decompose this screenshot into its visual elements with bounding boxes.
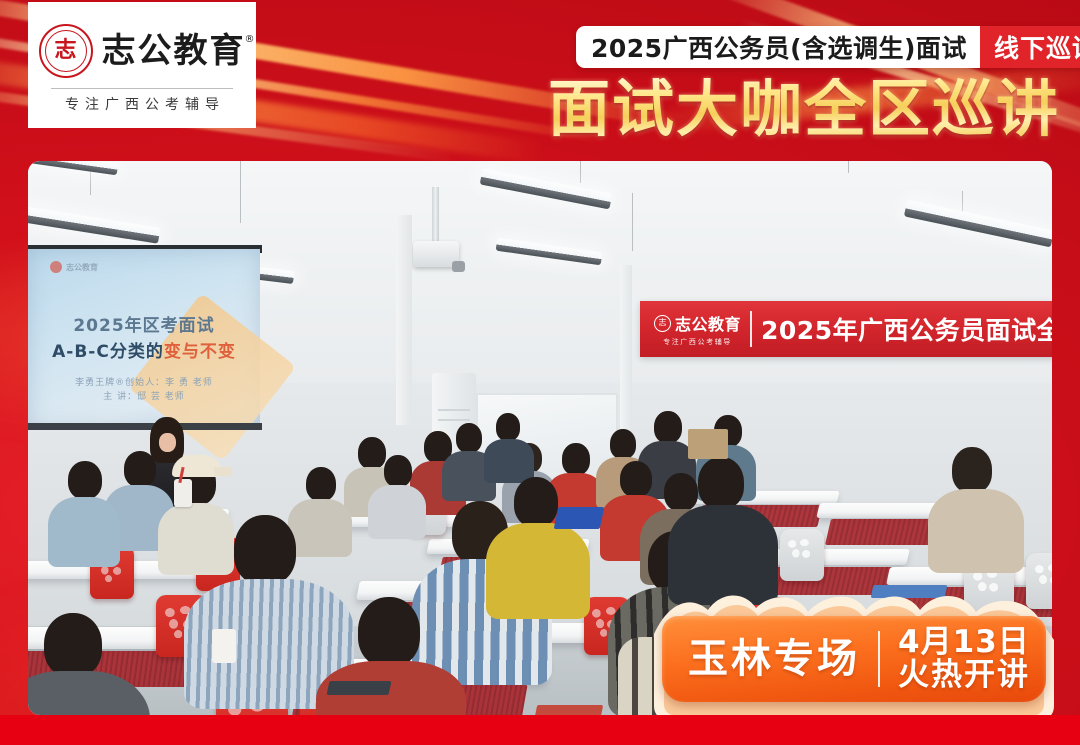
ac-vent-line [438,419,470,421]
logo-divider [51,88,233,89]
projection-screen: 志公教育 2025年区考面试 A-B-C分类的变与不变 李勇王牌®创始人：李 勇… [28,249,260,429]
seal-character: 志 [53,40,77,62]
badge-slogan: 火热开讲 [898,659,1030,692]
poster-root: 志 志公教育® 专注广西公考辅导 2025广西公务员(含选调生)面试 线下巡讲 … [0,0,1080,745]
blue-bag [554,507,605,529]
speaker-face [159,433,176,452]
brand-tagline: 专注广西公考辅导 [59,94,225,114]
company-seal-icon: 志 [39,24,93,78]
wall-banner-logo-sub: 专注广西公考辅导 [663,337,732,347]
event-pill-main: 2025广西公务员(含选调生)面试 [576,26,980,68]
drink-cup [212,629,236,663]
slide-line-2-highlight: 变与不变 [164,342,236,362]
brand-name-text: 志公教育 [102,31,246,71]
light-wire [632,193,633,251]
notebook [327,681,392,695]
bottom-red-band [0,715,1080,745]
drink-cup [174,479,192,507]
page-title: 面试大咖全区巡讲 [548,78,1060,140]
wall-banner-logo-row: 志 志公教育 [654,311,741,335]
badge-date-block: 4月13日 火热开讲 [898,626,1030,691]
light-wire [240,161,241,223]
wall-banner-logo-text: 志公教育 [675,311,741,335]
badge-divider [878,631,880,687]
wall-pillar [620,265,632,445]
event-pill-accent: 线下巡讲 [980,26,1080,68]
slide-credit-1: 李勇王牌®创始人：李 勇 老师 [28,375,260,388]
wall-banner-seal-icon: 志 [654,315,671,332]
wall-banner: 志 志公教育 专注广西公考辅导 2025年广西公务员面试全区巡讲·5 [640,301,1052,357]
ac-vent-line [438,409,470,411]
slide-line-2-prefix: A-B-C分类的 [52,342,164,362]
wall-banner-title: 2025年广西公务员面试全区巡讲·5 [752,311,1052,347]
wall-banner-logo: 志 志公教育 专注广西公考辅导 [640,311,750,347]
screen-bottom-frame [28,423,262,430]
badge-date: 4月13日 [898,626,1030,659]
projector-mount [432,187,439,243]
paper-bag [688,429,728,459]
registered-mark: ® [245,35,257,45]
slide-credit-2: 主 讲：邸 芸 老师 [28,389,260,402]
light-wire [848,161,849,173]
brand-logo-row: 志 志公教育® [39,16,246,82]
wall-banner-divider [750,311,752,347]
badge-city-label: 玉林专场 [662,639,860,679]
book [535,705,603,715]
slide-line-1: 2025年区考面试 [28,311,260,336]
event-pill: 2025广西公务员(含选调生)面试 线下巡讲 [576,26,1080,68]
light-wire [580,161,581,183]
brand-name: 志公教育® [102,34,246,68]
projector-lens [452,261,465,272]
brand-logo-panel: 志 志公教育® 专注广西公考辅导 [28,2,256,128]
slide-line-2: A-B-C分类的变与不变 [28,337,260,362]
city-badge-body: 玉林专场 4月13日 火热开讲 [662,616,1046,702]
city-badge: 玉林专场 4月13日 火热开讲 [648,594,1060,722]
slide-logo-text: 志公教育 [66,262,98,273]
slide-logo: 志公教育 [50,261,98,273]
wall-pillar [396,215,412,425]
chair [780,529,824,581]
slide-logo-mark-icon [50,261,62,273]
